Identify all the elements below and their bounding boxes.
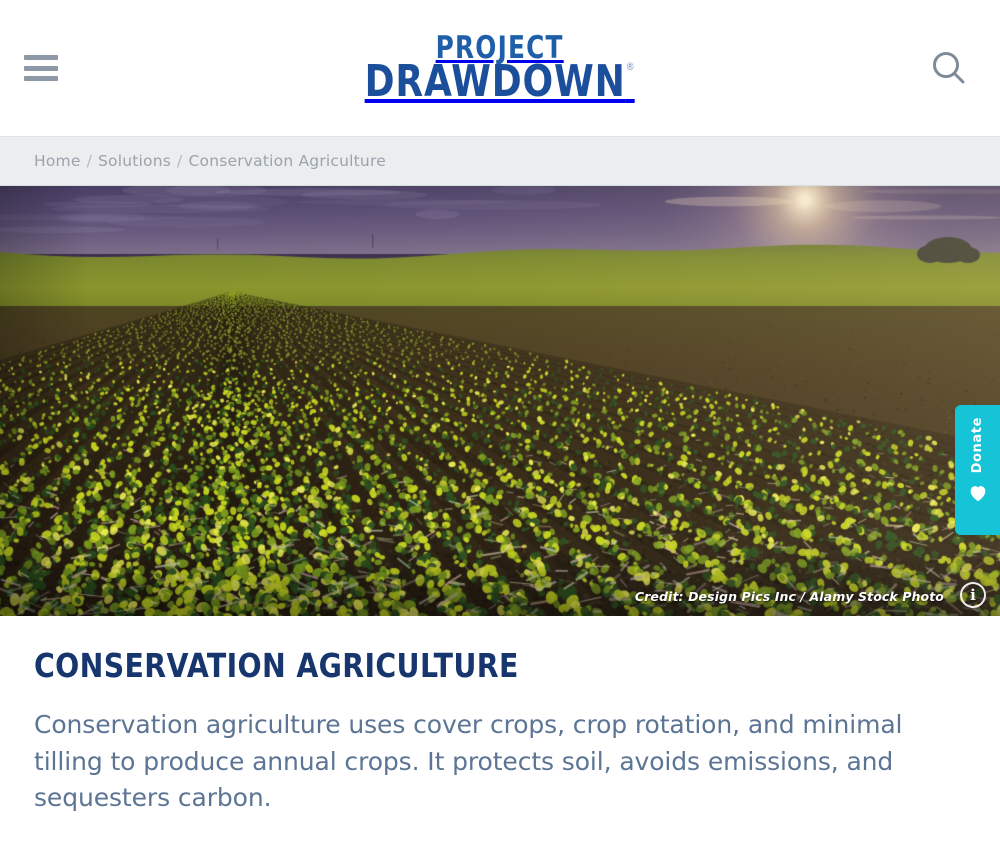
logo-line-drawdown: DRAWDOWN®: [365, 62, 635, 102]
hamburger-bar-1: [24, 55, 58, 60]
page-root: PROJECT DRAWDOWN® Home/Solutions/Conserv…: [0, 0, 1000, 857]
logo-trademark: ®: [626, 60, 635, 73]
breadcrumb-item-current: Conservation Agriculture: [188, 152, 385, 170]
breadcrumb-separator-1: /: [87, 152, 92, 170]
breadcrumb-list: Home/Solutions/Conservation Agriculture: [34, 152, 386, 170]
site-header: PROJECT DRAWDOWN®: [0, 0, 1000, 136]
breadcrumb-item-solutions[interactable]: Solutions: [98, 152, 171, 170]
hero-image: Credit: Design Pics Inc / Alamy Stock Ph…: [0, 186, 1000, 616]
hero-photo: [0, 186, 1000, 616]
site-logo[interactable]: PROJECT DRAWDOWN®: [335, 34, 664, 103]
page-lede-paragraph: Conservation agriculture uses cover crop…: [34, 707, 944, 817]
search-icon[interactable]: [928, 47, 970, 89]
info-glyph: i: [970, 586, 976, 604]
page-title: CONSERVATION AGRICULTURE: [34, 646, 836, 685]
hero-photo-credit: Credit: Design Pics Inc / Alamy Stock Ph…: [635, 589, 944, 604]
heart-icon: [968, 483, 988, 503]
hamburger-bar-3: [24, 76, 58, 81]
info-circle-icon[interactable]: i: [960, 582, 986, 608]
hamburger-menu-icon[interactable]: [24, 55, 58, 81]
breadcrumb-item-home[interactable]: Home: [34, 152, 81, 170]
breadcrumb: Home/Solutions/Conservation Agriculture: [0, 136, 1000, 186]
logo-drawdown-text: DRAWDOWN: [365, 56, 626, 107]
donate-label: Donate: [970, 417, 985, 473]
hamburger-bar-2: [24, 66, 58, 71]
main-content: CONSERVATION AGRICULTURE Conservation ag…: [0, 616, 1000, 817]
donate-tab-button[interactable]: Donate: [955, 405, 1000, 535]
breadcrumb-separator-2: /: [177, 152, 182, 170]
